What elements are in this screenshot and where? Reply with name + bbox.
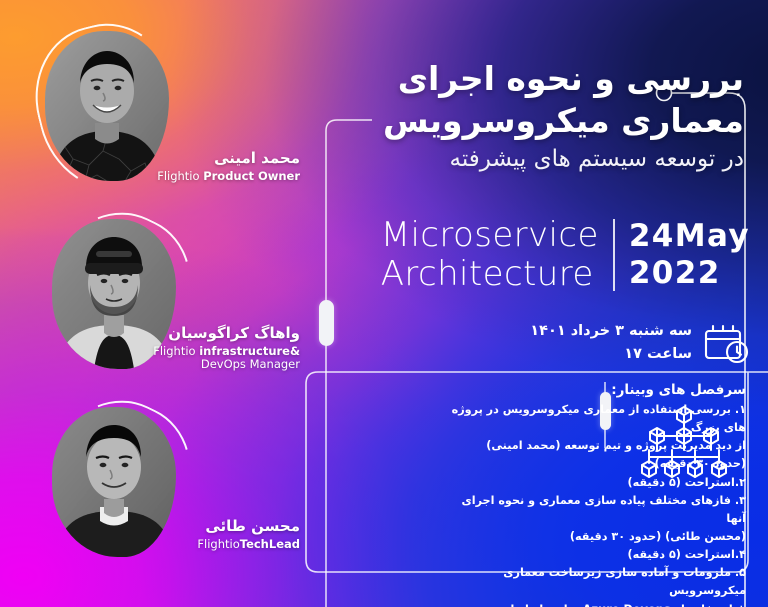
speaker-org: Flightio	[197, 537, 239, 551]
english-date-line-1: 24May	[629, 218, 750, 255]
agenda-item: ۳. فازهای مختلف پیاده سازی معماری و نحوه…	[450, 492, 746, 528]
title-date-divider	[613, 219, 615, 291]
speaker-label-2: واهاگ کراگوسیان Flightio infrastructure&…	[110, 325, 300, 372]
english-title-date-block: Microservice Architecture 24May 2022	[381, 216, 750, 294]
speaker-role-text: TechLead	[240, 537, 300, 551]
speaker-name: واهاگ کراگوسیان	[110, 325, 300, 343]
agenda-item: ۵. ملزومات و آماده سازی زیرساخت معماری م…	[450, 564, 746, 600]
datetime-text: سه شنبه ۳ خرداد ۱۴۰۱ ساعت ۱۷	[530, 320, 692, 367]
speaker-role-text: infrastructure&	[199, 344, 300, 358]
persian-date: سه شنبه ۳ خرداد ۱۴۰۱	[530, 320, 692, 343]
speaker-role: FlightioTechLead	[130, 538, 300, 552]
subheadline: در توسعه سیستم های پیشرفته	[324, 143, 744, 176]
persian-time: ساعت ۱۷	[530, 343, 692, 366]
speaker-label-3: محسن طائی FlightioTechLead	[130, 518, 300, 551]
datetime-row: سه شنبه ۳ خرداد ۱۴۰۱ ساعت ۱۷	[530, 320, 750, 367]
speaker-role: Flightio Product Owner	[120, 170, 300, 184]
agenda-item: + استفاده از Azure Devops برای راه انداز…	[450, 601, 746, 607]
calendar-clock-icon	[704, 321, 750, 365]
microservice-tree-icon	[640, 405, 728, 487]
agenda-title: سرفصل های وبینار:	[450, 382, 746, 398]
webinar-poster: محمد امینی Flightio Product Owner	[0, 0, 768, 607]
headline-line-2: معماری میکروسرویس	[324, 100, 744, 142]
speaker-role-text: Product Owner	[203, 169, 300, 183]
accent-pill-left	[319, 300, 334, 346]
speaker-org: Flightio	[157, 169, 199, 183]
speaker-label-1: محمد امینی Flightio Product Owner	[120, 150, 300, 183]
agenda-item: ۴.استراحت (۵ دقیقه)	[450, 546, 746, 564]
speaker-name: محمد امینی	[120, 150, 300, 168]
english-title: Microservice Architecture	[381, 216, 599, 294]
speaker-name: محسن طائی	[130, 518, 300, 536]
speaker-org: Flightio	[153, 344, 195, 358]
english-date-line-2: 2022	[629, 255, 750, 292]
english-title-line-2: Architecture	[381, 255, 599, 294]
english-title-line-1: Microservice	[381, 216, 599, 255]
headline-block: بررسی و نحوه اجرای معماری میکروسرویس در …	[324, 58, 744, 177]
headline-line-1: بررسی و نحوه اجرای	[324, 58, 744, 100]
agenda-item: (محسن طائی) (حدود ۳۰ دقیقه)	[450, 528, 746, 546]
english-date: 24May 2022	[629, 218, 750, 292]
speaker-role-line2: DevOps Manager	[110, 358, 300, 372]
